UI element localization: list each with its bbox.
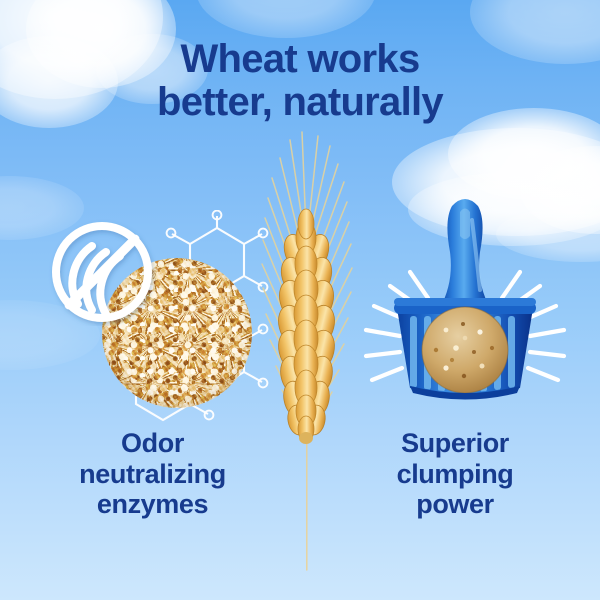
caption-odor-neutralizing: Odor neutralizing enzymes bbox=[25, 428, 280, 520]
litter-scoop-icon bbox=[360, 190, 570, 420]
headline: Wheat works better, naturally bbox=[0, 38, 600, 124]
caption-superior-clumping: Superior clumping power bbox=[330, 428, 580, 520]
benefit-graphic-canvas: Wheat works better, naturally bbox=[0, 0, 600, 600]
cloud-shape bbox=[196, 0, 376, 38]
feature-superior-clumping bbox=[360, 190, 570, 420]
no-odor-icon bbox=[48, 218, 156, 326]
